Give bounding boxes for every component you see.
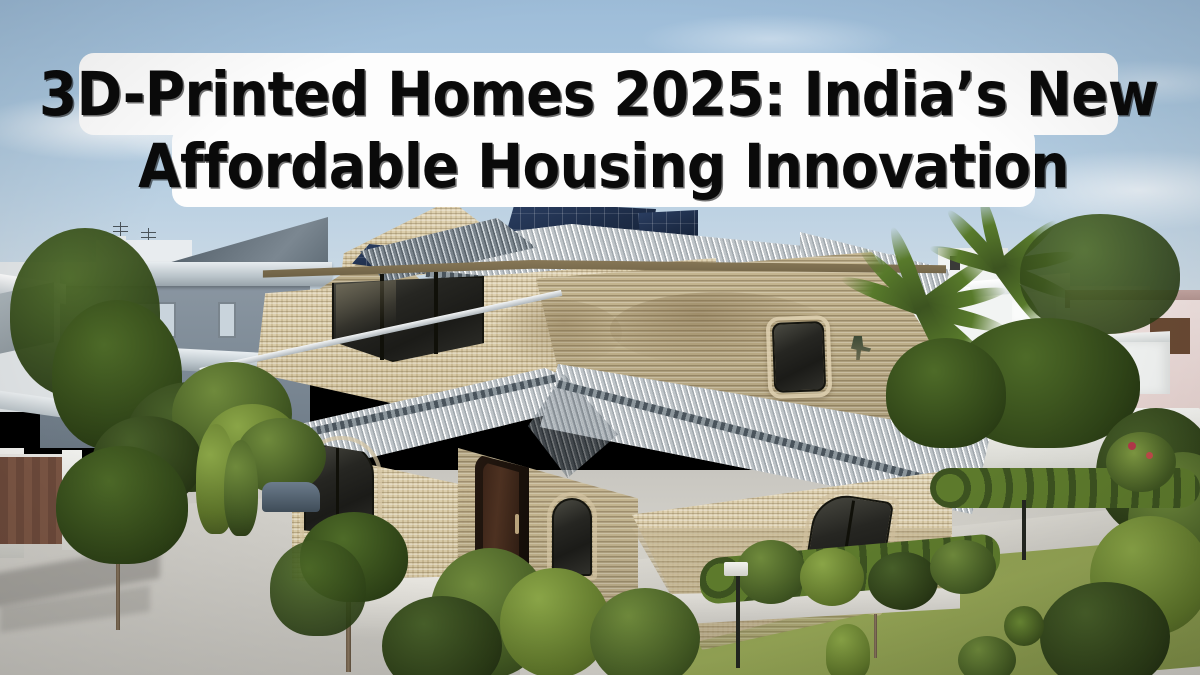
lamp-post [1022,500,1026,560]
shrub [800,548,864,606]
title-line-2: Affordable Housing Innovation [172,126,1035,207]
title-line-1: 3D-Printed Homes 2025: India’s New [79,53,1118,135]
window-mullion [434,272,438,354]
sapling-stake [874,614,877,658]
wall-curved-shadow [492,300,622,366]
lawn-plant [826,624,870,675]
banana-plant [224,440,258,536]
banner-image: 3D-Printed Homes 2025: India’s New Affor… [0,0,1200,675]
lamp-head-icon [724,562,748,576]
palm-tree [922,300,923,301]
shrub [930,540,996,594]
tree-canopy [886,338,1006,448]
lawn-plant [1004,606,1044,646]
title-overlay: 3D-Printed Homes 2025: India’s New Affor… [0,0,1200,215]
window-surround [547,492,597,580]
tree-canopy [270,540,366,636]
flower [1128,442,1136,450]
flowering-shrub [1106,432,1176,492]
tree-canopy [56,446,188,564]
shrub [868,552,938,610]
flower [1146,452,1153,459]
tree-canopy [1020,214,1180,334]
door-handle-icon[interactable] [515,514,519,534]
window-surround [766,315,833,399]
parked-car [262,482,320,512]
lamp-post [736,572,740,668]
